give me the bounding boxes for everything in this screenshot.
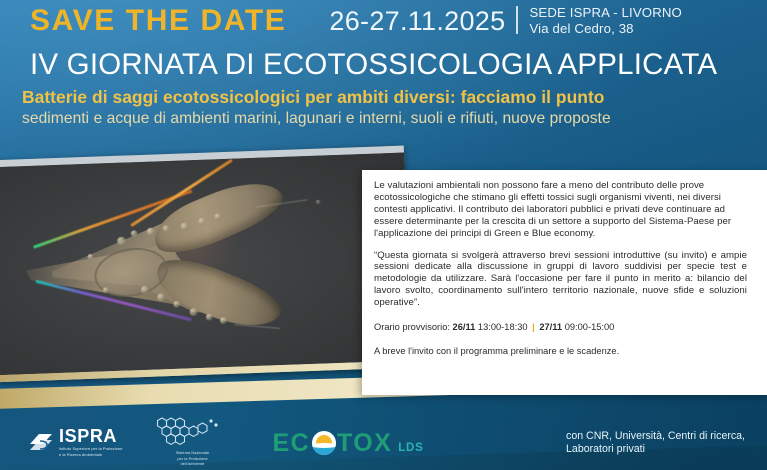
venue-line-2: Via del Cedro, 38: [529, 21, 682, 37]
ispra-text-block: ISPRA Istituto Superiore per la Protezio…: [59, 427, 123, 457]
save-the-date-label: SAVE THE DATE: [30, 4, 286, 38]
snpa-subtitle-line-2: per la Protezione: [147, 457, 239, 462]
description-panel: Le valutazioni ambientali non possono fa…: [362, 170, 767, 395]
event-subtitle: Batterie di saggi ecotossicologici per a…: [0, 82, 767, 108]
snpa-subtitle-line-1: Sistema Nazionale: [147, 451, 239, 456]
ispra-mark-icon: [28, 429, 54, 455]
ispra-name: ISPRA: [59, 427, 123, 445]
event-subtitle-secondary: sedimenti e acque di ambienti marini, la…: [0, 108, 767, 129]
vertical-divider: [516, 6, 518, 34]
header-top-row: SAVE THE DATE 26-27.11.2025 SEDE ISPRA -…: [0, 0, 767, 42]
wave-icon: [312, 443, 336, 448]
ecotox-logo: EC TOX LDS: [273, 430, 424, 456]
schedule-day-1: 26/11: [453, 322, 476, 332]
page-title: IV GIORNATA DI ECOTOSSICOLOGIA APPLICATA: [0, 42, 767, 82]
poster-footer: ISPRA Istituto Superiore per la Protezio…: [0, 410, 767, 470]
snpa-subtitle-line-3: dell'Ambiente: [147, 462, 239, 467]
ispra-logo: ISPRA Istituto Superiore per la Protezio…: [28, 427, 123, 457]
snpa-hexagon-network-icon: [154, 415, 232, 445]
ispra-subtitle-line-1: Istituto Superiore per la Protezione: [59, 446, 123, 451]
venue-block: SEDE ISPRA - LIVORNO Via del Cedro, 38: [529, 4, 682, 37]
partners-line-1: con CNR, Università, Centri di ricerca,: [566, 430, 745, 444]
larva-granule: [189, 308, 197, 316]
ecotox-lds-suffix: LDS: [398, 442, 423, 454]
schedule-time-1: 13:00-18:30: [478, 322, 528, 332]
larva-granule: [206, 313, 213, 320]
schedule-line: Orario provvisorio: 26/11 13:00-18:30 | …: [374, 321, 761, 333]
larva-granule: [173, 301, 180, 308]
event-date: 26-27.11.2025: [329, 4, 505, 38]
partners-line-2: Laboratori privati: [566, 443, 745, 457]
pluteus-larva-photo: foto: Pluteo di riccio (Lorenzo Morroni): [0, 153, 411, 376]
description-paragraph-2: “Questa giornata si svolgerà attraverso …: [374, 250, 761, 310]
closing-note: A breve l'invito con il programma prelim…: [374, 345, 761, 357]
schedule-divider: |: [530, 322, 537, 332]
venue-line-1: SEDE ISPRA - LIVORNO: [529, 5, 682, 21]
photo-block: foto: Pluteo di riccio (Lorenzo Morroni): [0, 146, 412, 388]
snpa-logo: Sistema Nazionale per la Protezione dell…: [147, 415, 239, 467]
larva-granule: [220, 317, 227, 324]
ecotox-text-part-1: EC: [273, 430, 311, 456]
schedule-day-2: 27/11: [539, 322, 562, 332]
poster-header: SAVE THE DATE 26-27.11.2025 SEDE ISPRA -…: [0, 0, 767, 129]
poster-canvas: SAVE THE DATE 26-27.11.2025 SEDE ISPRA -…: [0, 0, 767, 470]
partners-block: con CNR, Università, Centri di ricerca, …: [566, 430, 745, 457]
schedule-time-2: 09:00-15:00: [565, 322, 615, 332]
description-paragraph-1: Le valutazioni ambientali non possono fa…: [374, 180, 761, 240]
ispra-subtitle-line-2: e la Ricerca Ambientale: [59, 452, 123, 457]
larva-illustration: [29, 183, 335, 354]
header-date-venue-group: 26-27.11.2025 SEDE ISPRA - LIVORNO Via d…: [329, 4, 753, 38]
ecotox-wordmark: EC TOX: [273, 430, 393, 456]
schedule-label: Orario provvisorio:: [374, 322, 450, 332]
ecotox-text-part-2: TOX: [337, 430, 392, 456]
sun-sea-icon: [312, 431, 336, 455]
